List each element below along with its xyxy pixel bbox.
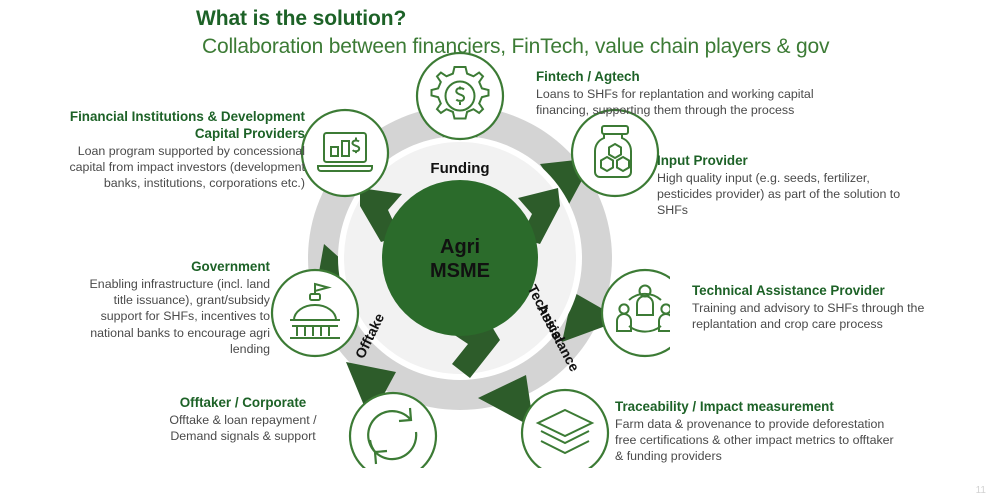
callout-heading: Input Provider xyxy=(657,152,922,169)
callout-heading: Technical Assistance Provider xyxy=(692,282,962,299)
center-label-line1: Agri xyxy=(440,236,480,258)
node-bubble-technical-assistance-provider[interactable] xyxy=(602,270,670,356)
callout-heading: Financial Institutions & Development Cap… xyxy=(60,108,305,142)
callout-input-provider: Input Provider High quality input (e.g. … xyxy=(657,152,922,219)
center-label-line2: MSME xyxy=(430,260,490,282)
callout-body: Farm data & provenance to provide defore… xyxy=(615,416,900,465)
callout-traceability-impact: Traceability / Impact measurement Farm d… xyxy=(615,398,900,465)
callout-heading: Traceability / Impact measurement xyxy=(615,398,900,415)
node-bubble-financial-institutions[interactable] xyxy=(302,110,388,196)
node-bubble-government[interactable] xyxy=(272,270,358,356)
callout-body: Enabling infrastructure (incl. land titl… xyxy=(80,276,270,357)
callout-technical-assistance-provider: Technical Assistance Provider Training a… xyxy=(692,282,962,332)
node-bubble-traceability-impact[interactable] xyxy=(522,390,608,468)
callout-government: Government Enabling infrastructure (incl… xyxy=(80,258,270,357)
callout-fintech-agtech: Fintech / Agtech Loans to SHFs for repla… xyxy=(536,68,826,118)
callout-body: Loan program supported by concessional c… xyxy=(60,143,305,192)
callout-heading: Fintech / Agtech xyxy=(536,68,826,85)
center-disc xyxy=(382,180,538,336)
callout-body: High quality input (e.g. seeds, fertiliz… xyxy=(657,170,922,219)
page-number: 11 xyxy=(976,485,986,496)
callout-heading: Government xyxy=(80,258,270,275)
callout-offtaker-corporate: Offtaker / Corporate Offtake & loan repa… xyxy=(148,394,338,444)
slide-canvas: What is the solution? Collaboration betw… xyxy=(0,0,1000,504)
callout-body: Offtake & loan repayment / Demand signal… xyxy=(148,412,338,444)
callout-financial-institutions: Financial Institutions & Development Cap… xyxy=(60,108,305,192)
node-bubble-fintech-agtech[interactable] xyxy=(417,53,503,139)
ring-label-funding: Funding xyxy=(430,160,489,177)
callout-heading: Offtaker / Corporate xyxy=(148,394,338,411)
callout-body: Loans to SHFs for replantation and worki… xyxy=(536,86,826,118)
callout-body: Training and advisory to SHFs through th… xyxy=(692,300,962,332)
node-bubble-input-provider[interactable] xyxy=(572,110,658,196)
node-bubble-offtaker-corporate[interactable] xyxy=(350,393,436,468)
page-title: What is the solution? xyxy=(196,6,916,32)
